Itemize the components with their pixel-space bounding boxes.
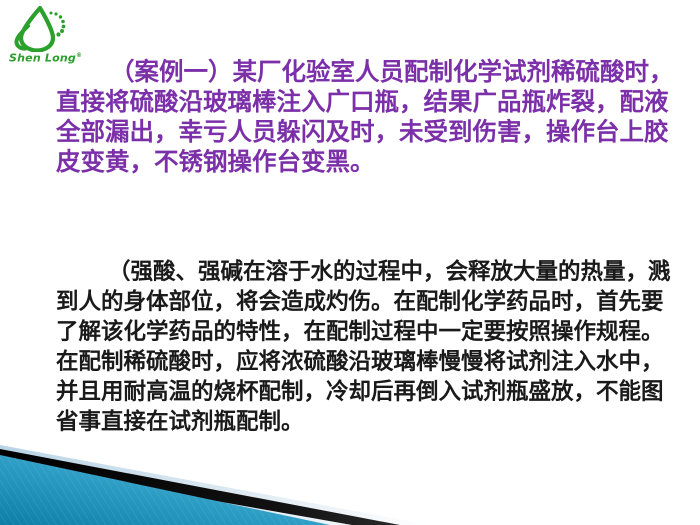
- slide-content: （案例一）某厂化验室人员配制化学试剂稀硫酸时，直接将硫酸沿玻璃棒注入广口瓶，结果…: [0, 0, 700, 525]
- presentation-slide: Shen Long® （案例一）某厂化验室人员配制化学试剂稀硫酸时，直接将硫酸沿…: [0, 0, 700, 525]
- safety-explanation-paragraph: （强酸、强碱在溶于水的过程中，会释放大量的热量，溅到人的身体部位，将会造成灼伤。…: [56, 257, 680, 437]
- case-study-paragraph: （案例一）某厂化验室人员配制化学试剂稀硫酸时，直接将硫酸沿玻璃棒注入广口瓶，结果…: [56, 57, 680, 177]
